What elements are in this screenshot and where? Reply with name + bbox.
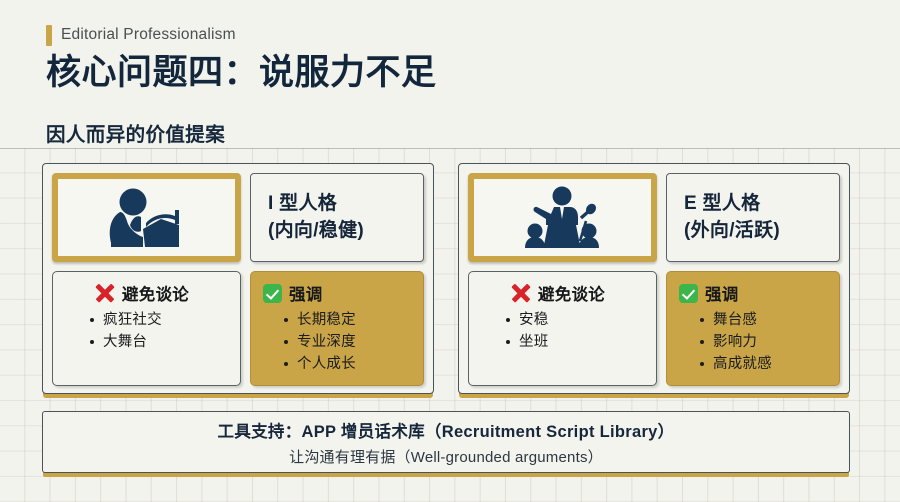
persona-type-box-right: E 型人格 (外向/活跃) <box>666 173 840 262</box>
persona-type-line2: (外向/活跃) <box>684 218 839 244</box>
page-subtitle: 因人而异的价值提案 <box>46 118 225 147</box>
emphasize-heading-label: 强调 <box>289 281 323 305</box>
list-item: 高成就感 <box>693 353 829 375</box>
list-item: 影响力 <box>693 331 829 353</box>
list-item: 疯狂社交 <box>83 309 230 331</box>
eyebrow-label: Editorial Professionalism <box>61 26 236 44</box>
emphasize-panel-left: 强调 长期稳定 专业深度 个人成长 <box>250 271 424 386</box>
persona-type-line1: E 型人格 <box>684 191 839 217</box>
list-item: 个人成长 <box>277 353 413 375</box>
eyebrow: Editorial Professionalism <box>46 24 437 46</box>
red-x-icon <box>512 284 531 303</box>
eyebrow-accent-bar <box>46 25 52 46</box>
list-item: 舞台感 <box>693 309 829 331</box>
avoid-panel-left: 避免谈论 疯狂社交 大舞台 <box>52 271 241 386</box>
persona-type-line2: (内向/稳健) <box>268 218 423 244</box>
page-title: 核心问题四：说服力不足 <box>46 53 437 93</box>
list-item: 专业深度 <box>277 331 413 353</box>
avoid-heading-row: 避免谈论 <box>65 281 230 305</box>
persona-card-e-type: E 型人格 (外向/活跃) 避免谈论 安稳 坐班 强调 舞台感 影响力 高成就感 <box>458 163 850 394</box>
footer-primary-text: 工具支持：APP 增员话术库（Recruitment Script Librar… <box>218 418 675 442</box>
avoid-list-right: 安稳 坐班 <box>499 309 646 353</box>
avoid-heading-label: 避免谈论 <box>122 281 189 305</box>
persona-icon-frame-right <box>468 173 657 262</box>
green-check-icon <box>263 284 282 303</box>
footer-banner: 工具支持：APP 增员话术库（Recruitment Script Librar… <box>42 411 850 473</box>
slide-header: Editorial Professionalism 核心问题四：说服力不足 <box>46 24 437 93</box>
emphasize-panel-right: 强调 舞台感 影响力 高成就感 <box>666 271 840 386</box>
slide-canvas: Editorial Professionalism 核心问题四：说服力不足 因人… <box>0 0 900 502</box>
emphasize-list-left: 长期稳定 专业深度 个人成长 <box>277 309 413 375</box>
emphasize-heading-label: 强调 <box>705 281 739 305</box>
list-item: 大舞台 <box>83 331 230 353</box>
avoid-heading-label: 避免谈论 <box>538 281 605 305</box>
avoid-panel-right: 避免谈论 安稳 坐班 <box>468 271 657 386</box>
emphasize-list-right: 舞台感 影响力 高成就感 <box>693 309 829 375</box>
persona-icon-frame-left <box>52 173 241 262</box>
red-x-icon <box>96 284 115 303</box>
list-item: 坐班 <box>499 331 646 353</box>
emphasize-heading-row: 强调 <box>263 281 413 305</box>
emphasize-heading-row: 强调 <box>679 281 829 305</box>
persona-type-line1: I 型人格 <box>268 191 423 217</box>
persona-card-i-type: I 型人格 (内向/稳健) 避免谈论 疯狂社交 大舞台 强调 长期稳定 专业深度… <box>42 163 434 394</box>
list-item: 安稳 <box>499 309 646 331</box>
list-item: 长期稳定 <box>277 309 413 331</box>
persona-type-box-left: I 型人格 (内向/稳健) <box>250 173 424 262</box>
speaker-at-podium-icon <box>513 185 613 251</box>
footer-secondary-text: 让沟通有理有据（Well-grounded arguments） <box>289 446 603 467</box>
person-reading-book-icon <box>99 185 195 251</box>
avoid-heading-row: 避免谈论 <box>481 281 646 305</box>
avoid-list-left: 疯狂社交 大舞台 <box>83 309 230 353</box>
grid-top-divider <box>0 148 900 149</box>
green-check-icon <box>679 284 698 303</box>
